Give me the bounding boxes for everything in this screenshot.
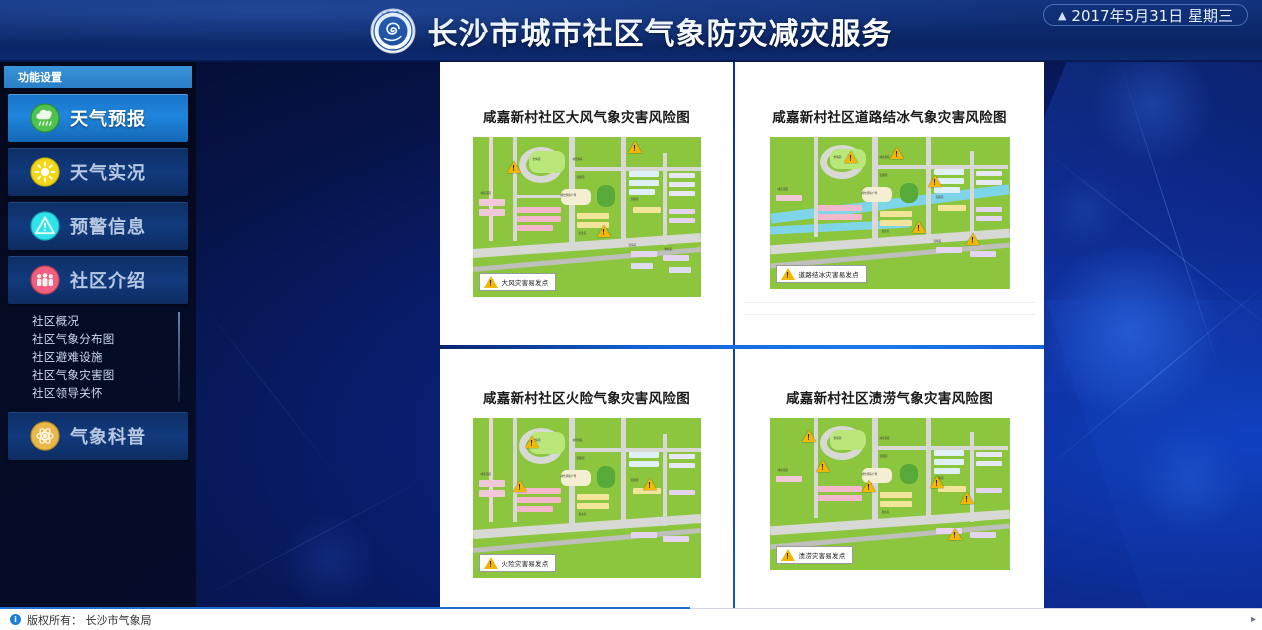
svg-text:CMA: CMA [390,48,396,51]
map-legend: 道路结冰灾害易发点 [776,265,867,283]
sidebar-item-label: 气象科普 [70,423,146,449]
card-title: 咸嘉新村社区大风气象灾害风险图 [483,106,690,126]
background-line [199,300,348,490]
card-title: 咸嘉新村社区渍涝气象灾害风险图 [786,387,993,407]
legend-label: 大风灾害易发点 [502,277,549,287]
cloud-rain-icon [30,103,60,133]
hazard-map-card-wind[interactable]: 咸嘉新村社区大风气象灾害风险图 [440,62,733,345]
legend-label: 道路结冰灾害易发点 [799,269,859,279]
hazard-map-card-waterlogging[interactable]: 咸嘉新村社区渍涝气象灾害风险图 [735,349,1044,608]
hazard-marker [507,161,521,173]
submenu-item-label: 社区气象灾害图 [32,367,115,383]
hazard-marker [948,528,962,540]
copyright-text: 版权所有： 长沙市气象局 [27,612,152,628]
risk-map-image: 怡情园 咸嘉湖东 温馨园 咸嘉花园 咸怡风情广场 嘉友苑 温馨园 渍涝灾 [770,418,1010,570]
sidebar-item-weather-forecast[interactable]: 天气预报 [8,94,188,142]
hazard-map-card-road-ice[interactable]: 咸嘉新村社区道路结冰气象灾害风险图 [735,62,1044,345]
submenu-item-label: 社区概况 [32,313,79,329]
atom-icon [30,421,60,451]
hazard-marker [930,476,944,488]
hazard-marker [525,436,539,448]
hazard-marker [643,478,657,490]
footer-accent-line [0,607,690,609]
sidebar-item-weather-science[interactable]: 气象科普 [8,412,188,460]
map-legend: 大风灾害易发点 [479,273,557,291]
hazard-marker [862,480,876,492]
submenu-item-label: 社区气象分布图 [32,331,115,347]
sidebar-menu: 天气预报 [0,88,196,460]
hazard-marker [844,151,858,163]
footer-bar: i 版权所有： 长沙市气象局 ▸ [0,608,1262,630]
hazard-marker [928,175,942,187]
warning-triangle-icon [484,557,498,569]
submenu-item-label: 社区避难设施 [32,349,103,365]
info-icon: i [10,614,21,625]
sun-icon [30,157,60,187]
sidebar-panel-header: 功能设置 [4,66,192,88]
submenu-item-leader-care[interactable]: 社区领导关怀 [16,384,180,402]
sidebar-item-community-intro[interactable]: 社区介绍 [8,256,188,304]
date-display: ▲ 2017年5月31日 星期三 [1043,4,1248,26]
content-panel: 咸嘉新村社区大风气象灾害风险图 [440,62,1044,608]
hazard-marker [960,492,974,504]
app-header: 中 国 气 象 CMA 长沙市城市社区气象防灾减灾服务 ▲ 2017年5月31日… [0,0,1262,62]
risk-map-image: 怡情园 咸嘉湖东 温馨园 咸嘉花园 咸怡风情广场 嘉友苑 温馨园 温情苑 怡和苑… [473,137,701,297]
hazard-marker [802,430,816,442]
hazard-marker [912,221,926,233]
legend-label: 火险灾害易发点 [502,558,549,568]
submenu-item-shelter-facilities[interactable]: 社区避难设施 [16,348,180,366]
background-line [196,478,426,601]
warning-triangle-icon [781,268,795,280]
card-title: 咸嘉新村社区道路结冰气象灾害风险图 [772,106,1007,126]
card-title: 咸嘉新村社区火险气象灾害风险图 [483,387,690,407]
calendar-icon: ▲ [1058,10,1066,21]
risk-map-image: 怡情园 咸嘉湖东 温馨园 咸嘉花园 咸怡风情广场 嘉友苑 温馨园 火险灾害易发点 [473,418,701,578]
chevron-right-icon[interactable]: ▸ [1251,614,1256,625]
sidebar: 功能设置 天气预 [0,62,196,608]
hazard-marker [966,233,980,245]
sidebar-item-weather-live[interactable]: 天气实况 [8,148,188,196]
people-group-icon [30,265,60,295]
risk-map-image: 怡情园 咸嘉湖东 温馨园 咸嘉花园 咸怡风情广场 嘉友苑 温馨园 温情苑 [770,137,1010,289]
sidebar-item-label: 天气预报 [70,105,146,131]
hazard-map-card-fire[interactable]: 咸嘉新村社区火险气象灾害风险图 [440,349,733,608]
submenu-item-community-overview[interactable]: 社区概况 [16,312,180,330]
sidebar-item-warning-info[interactable]: 预警信息 [8,202,188,250]
map-legend: 火险灾害易发点 [479,554,557,572]
hazard-map-grid: 咸嘉新村社区大风气象灾害风险图 [440,62,1044,608]
date-text: 2017年5月31日 星期三 [1071,5,1233,26]
map-legend: 渍涝灾害易发点 [776,546,854,564]
sidebar-item-label: 天气实况 [70,159,146,185]
warning-triangle-icon [781,549,795,561]
warning-triangle-icon [30,211,60,241]
sidebar-item-label: 预警信息 [70,213,146,239]
application-root: 中 国 气 象 CMA 长沙市城市社区气象防灾减灾服务 ▲ 2017年5月31日… [0,0,1262,630]
hazard-marker [816,460,830,472]
legend-label: 渍涝灾害易发点 [799,550,846,560]
cma-emblem-icon: 中 国 气 象 CMA [370,8,416,54]
hazard-marker [597,225,611,237]
submenu-item-label: 社区领导关怀 [32,385,103,401]
warning-triangle-icon [484,276,498,288]
hazard-marker [628,141,642,153]
page-title: 长沙市城市社区气象防灾减灾服务 [428,9,893,53]
submenu-item-weather-distribution[interactable]: 社区气象分布图 [16,330,180,348]
background-polygon [1046,300,1262,630]
sidebar-item-label: 社区介绍 [70,267,146,293]
hazard-marker [890,147,904,159]
sidebar-panel-label: 功能设置 [18,69,62,85]
sidebar-submenu: 社区概况 社区气象分布图 社区避难设施 社区气象灾害图 社区领导关怀 [16,310,180,408]
hazard-marker [513,480,527,492]
submenu-item-hazard-map[interactable]: 社区气象灾害图 [16,366,180,384]
